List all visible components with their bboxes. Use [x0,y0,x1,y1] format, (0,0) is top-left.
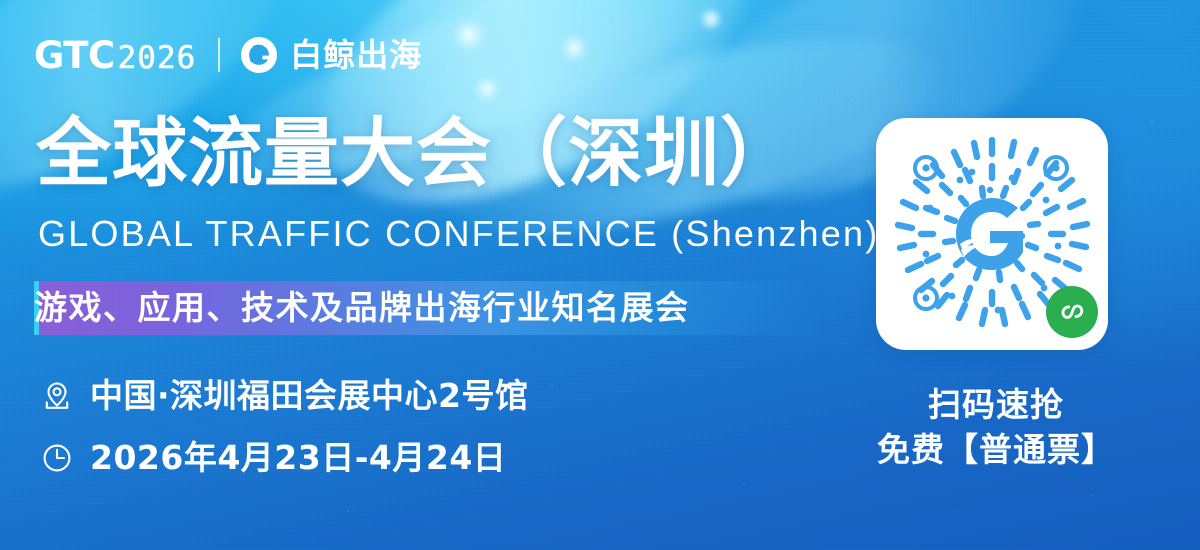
date-info: 2026年4月23日-4月24日 [40,440,506,476]
page-title: 全球流量大会（深圳） [36,114,796,194]
glow-dot-decoration [560,34,588,62]
whale-g-circle-icon [240,36,278,74]
qr-caption-line-2: 免费【普通票】 [846,427,1146,472]
glow-dot-decoration [700,8,722,30]
venue-info: 中国·深圳福田会展中心2号馆 [40,378,529,414]
qr-caption-line-1: 扫码速抢 [846,382,1146,427]
wechat-miniprogram-icon[interactable] [1046,286,1098,338]
page-subtitle-en: GLOBAL TRAFFIC CONFERENCE (Shenzhen) [38,214,879,254]
venue-text: 中国·深圳福田会展中心2号馆 [90,378,529,414]
vertical-divider [218,38,220,72]
brand-name-text: 白鲸出海 [290,39,422,71]
gtc-logo: GTC 2026 [34,37,196,74]
location-pin-icon [40,379,74,413]
qr-code-card[interactable] [876,118,1108,350]
gtc-logo-year: 2026 [118,43,197,74]
date-text: 2026年4月23日-4月24日 [90,440,506,476]
event-banner: GTC 2026 白鲸出海 全球流量大会（深圳） GLOBAL TRAFFIC … [0,0,1200,550]
tagline-text: 游戏、应用、技术及品牌出海行业知名展会 [34,288,690,328]
brand-logo: 白鲸出海 [240,36,422,74]
clock-icon [40,441,74,475]
glow-dot-decoration [474,76,500,102]
letter-g-logo [956,198,1023,270]
gtc-logo-text: GTC [34,37,115,74]
header-logo-row: GTC 2026 白鲸出海 [34,30,422,80]
glow-dot-decoration [452,18,486,52]
qr-caption: 扫码速抢 免费【普通票】 [846,382,1146,472]
